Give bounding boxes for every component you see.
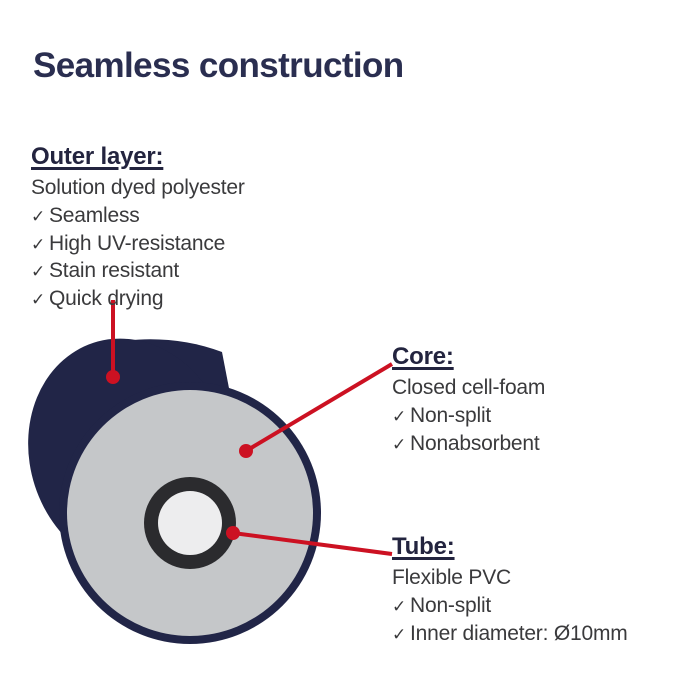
leader-core-line bbox=[246, 364, 392, 451]
check-icon: ✓ bbox=[31, 289, 49, 311]
check-icon: ✓ bbox=[31, 234, 49, 256]
list-item: ✓ Non-split bbox=[392, 592, 628, 620]
list-item-label: Stain resistant bbox=[49, 257, 179, 285]
callout-outer-layer-list: ✓ Seamless ✓ High UV-resistance ✓ Stain … bbox=[31, 202, 245, 313]
outer-layer-shape bbox=[0, 312, 321, 644]
list-item: ✓ Quick drying bbox=[31, 285, 245, 313]
list-item-label: Non-split bbox=[410, 592, 491, 620]
callout-core-list: ✓ Non-split ✓ Nonabsorbent bbox=[392, 402, 545, 457]
list-item-label: Inner diameter: Ø10mm bbox=[410, 620, 628, 648]
list-item: ✓ Nonabsorbent bbox=[392, 430, 545, 458]
core-shape bbox=[67, 390, 313, 636]
list-item: ✓ Inner diameter: Ø10mm bbox=[392, 620, 628, 648]
callout-core-lead: Closed cell-foam bbox=[392, 374, 545, 402]
list-item: ✓ Stain resistant bbox=[31, 257, 245, 285]
list-item-label: Seamless bbox=[49, 202, 140, 230]
callout-tube-list: ✓ Non-split ✓ Inner diameter: Ø10mm bbox=[392, 592, 628, 647]
check-icon: ✓ bbox=[392, 434, 410, 456]
check-icon: ✓ bbox=[392, 624, 410, 646]
callout-core-heading: Core: bbox=[392, 342, 545, 371]
callout-outer-layer-heading: Outer layer: bbox=[31, 142, 245, 171]
check-icon: ✓ bbox=[31, 261, 49, 283]
tube-wall-shape bbox=[144, 477, 236, 569]
list-item-label: Quick drying bbox=[49, 285, 163, 313]
callout-tube-heading: Tube: bbox=[392, 532, 628, 561]
infographic-root: Seamless construction bbox=[0, 0, 700, 700]
callout-outer-layer: Outer layer: Solution dyed polyester ✓ S… bbox=[31, 142, 245, 313]
leader-core-dot bbox=[239, 444, 253, 458]
list-item: ✓ Seamless bbox=[31, 202, 245, 230]
list-item-label: High UV-resistance bbox=[49, 230, 225, 258]
list-item-label: Non-split bbox=[410, 402, 491, 430]
check-icon: ✓ bbox=[392, 406, 410, 428]
list-item: ✓ Non-split bbox=[392, 402, 545, 430]
callout-tube: Tube: Flexible PVC ✓ Non-split ✓ Inner d… bbox=[392, 532, 628, 647]
check-icon: ✓ bbox=[31, 206, 49, 228]
leader-tube-dot bbox=[226, 526, 240, 540]
list-item: ✓ High UV-resistance bbox=[31, 230, 245, 258]
check-icon: ✓ bbox=[392, 596, 410, 618]
tube-bore-shape bbox=[158, 491, 222, 555]
callout-outer-layer-lead: Solution dyed polyester bbox=[31, 174, 245, 202]
list-item-label: Nonabsorbent bbox=[410, 430, 540, 458]
leader-outer-layer-dot bbox=[106, 370, 120, 384]
leader-tube-line bbox=[233, 533, 392, 554]
callout-tube-lead: Flexible PVC bbox=[392, 564, 628, 592]
callout-core: Core: Closed cell-foam ✓ Non-split ✓ Non… bbox=[392, 342, 545, 457]
leader-lines bbox=[106, 300, 392, 554]
page-title: Seamless construction bbox=[33, 46, 404, 86]
